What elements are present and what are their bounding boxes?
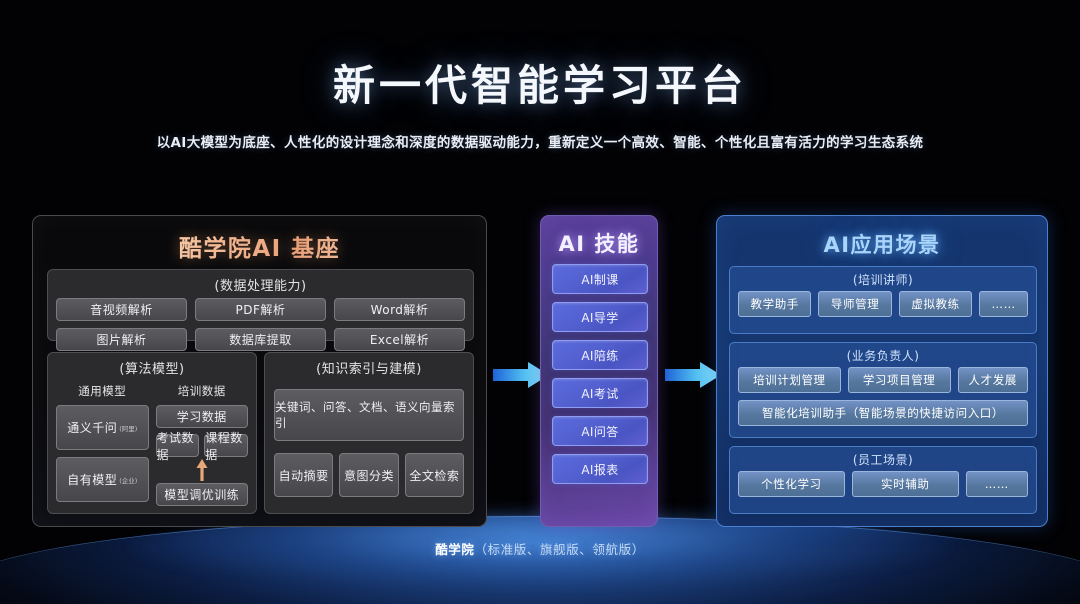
chip-learning-data[interactable]: 学习数据 (156, 405, 249, 428)
chip-model-own-name: 自有模型 (67, 471, 117, 488)
chip-fulltext-search[interactable]: 全文检索 (405, 453, 464, 497)
data-processing-group: (数据处理能力) 音视频解析 PDF解析 Word解析 图片解析 数据库提取 E… (47, 269, 474, 341)
algorithm-model-group: (算法模型) 通用模型 通义千问(阿里) 自有模型(企业) 培训数据 学习数据 … (47, 352, 257, 514)
knowledge-index-group: (知识索引与建模) 关键词、问答、文档、语义向量索引 自动摘要 意图分类 全文检… (264, 352, 474, 514)
chip-database-extract[interactable]: 数据库提取 (195, 328, 326, 351)
page-subtitle: 以AI大模型为底座、人性化的设计理念和深度的数据驱动能力，重新定义一个高效、智能… (0, 131, 1080, 151)
ai-skill-title: AI 技能 (541, 228, 657, 258)
chip-model-finetune-training[interactable]: 模型调优训练 (156, 483, 249, 506)
scene-chip-personalized-learning[interactable]: 个性化学习 (738, 471, 845, 497)
chip-word-parse[interactable]: Word解析 (334, 298, 465, 321)
knowledge-index-label: (知识索引与建模) (265, 353, 473, 381)
scene-business-row-1: 培训计划管理 学习项目管理 人才发展 (730, 367, 1036, 400)
chip-auto-summary[interactable]: 自动摘要 (274, 453, 333, 497)
scene-group-trainer-label: (培训讲师) (730, 267, 1036, 291)
arrow-right-icon (664, 360, 722, 390)
scene-chip-talent-development[interactable]: 人才发展 (958, 367, 1029, 393)
page-title: 新一代智能学习平台 (0, 52, 1080, 113)
chip-model-own-sup: (企业) (119, 475, 137, 485)
chip-exam-data[interactable]: 考试数据 (156, 434, 200, 457)
skill-item-ai-course[interactable]: AI制课 (552, 264, 648, 294)
chip-model-qwen-sup: (阿里) (119, 423, 137, 433)
skill-item-ai-report[interactable]: AI报表 (552, 454, 648, 484)
skill-item-ai-practice[interactable]: AI陪练 (552, 340, 648, 370)
scene-chip-smart-training-assistant[interactable]: 智能化培训助手（智能场景的快捷访问入口） (738, 400, 1028, 426)
chip-intent-classification[interactable]: 意图分类 (339, 453, 398, 497)
footer-brand: 酷学院 (435, 542, 474, 557)
skill-item-ai-guidance[interactable]: AI导学 (552, 302, 648, 332)
ai-scene-panel: AI应用场景 (培训讲师) 教学助手 导师管理 虚拟教练 …… (业务负责人) … (716, 215, 1048, 527)
scene-chip-mentor-management[interactable]: 导师管理 (818, 291, 891, 317)
footer: 酷学院（标准版、旗舰版、领航版） (0, 539, 1080, 558)
scene-chip-more-employee[interactable]: …… (966, 471, 1028, 497)
training-data-heading: 培训数据 (156, 383, 249, 399)
scene-chip-more-trainer[interactable]: …… (979, 291, 1028, 317)
scene-chip-virtual-coach[interactable]: 虚拟教练 (899, 291, 972, 317)
arrow-up-icon (195, 458, 209, 482)
data-processing-label: (数据处理能力) (48, 270, 473, 298)
skill-item-ai-qa[interactable]: AI问答 (552, 416, 648, 446)
chip-model-qwen[interactable]: 通义千问(阿里) (56, 405, 149, 450)
scene-employee-row: 个性化学习 实时辅助 …… (730, 471, 1036, 504)
chip-model-qwen-name: 通义千问 (67, 419, 117, 436)
header: 新一代智能学习平台 以AI大模型为底座、人性化的设计理念和深度的数据驱动能力，重… (0, 0, 1080, 151)
scene-group-business: (业务负责人) 培训计划管理 学习项目管理 人才发展 智能化培训助手（智能场景的… (729, 342, 1037, 438)
chip-semantic-index-bar[interactable]: 关键词、问答、文档、语义向量索引 (274, 389, 464, 441)
ai-scene-title: AI应用场景 (717, 229, 1047, 259)
chip-pdf-parse[interactable]: PDF解析 (195, 298, 326, 321)
ai-skill-list: AI制课 AI导学 AI陪练 AI考试 AI问答 AI报表 (552, 264, 648, 492)
scene-chip-teaching-assistant[interactable]: 教学助手 (738, 291, 811, 317)
scene-group-employee-label: (员工场景) (730, 447, 1036, 471)
flow-arrow-2 (664, 360, 722, 390)
slide-canvas: 新一代智能学习平台 以AI大模型为底座、人性化的设计理念和深度的数据驱动能力，重… (0, 0, 1080, 604)
footer-editions: （标准版、旗舰版、领航版） (475, 542, 645, 557)
ai-base-panel: 酷学院AI 基座 (数据处理能力) 音视频解析 PDF解析 Word解析 图片解… (32, 215, 487, 527)
chip-image-parse[interactable]: 图片解析 (56, 328, 187, 351)
skill-item-ai-exam[interactable]: AI考试 (552, 378, 648, 408)
scene-chip-realtime-assistance[interactable]: 实时辅助 (852, 471, 959, 497)
platform-edge (0, 516, 1080, 604)
ai-skill-panel: AI 技能 AI制课 AI导学 AI陪练 AI考试 AI问答 AI报表 (540, 215, 658, 527)
scene-chip-training-plan-management[interactable]: 培训计划管理 (738, 367, 841, 393)
chip-model-own[interactable]: 自有模型(企业) (56, 457, 149, 502)
scene-group-employee: (员工场景) 个性化学习 实时辅助 …… (729, 446, 1037, 514)
algorithm-model-label: (算法模型) (48, 353, 256, 381)
scene-trainer-row: 教学助手 导师管理 虚拟教练 …… (730, 291, 1036, 324)
scene-group-business-label: (业务负责人) (730, 343, 1036, 367)
scene-business-row-2: 智能化培训助手（智能场景的快捷访问入口） (730, 400, 1036, 433)
chip-excel-parse[interactable]: Excel解析 (334, 328, 465, 351)
chip-audio-video-parse[interactable]: 音视频解析 (56, 298, 187, 321)
general-model-heading: 通用模型 (56, 383, 149, 399)
chip-course-data[interactable]: 课程数据 (204, 434, 248, 457)
scene-group-trainer: (培训讲师) 教学助手 导师管理 虚拟教练 …… (729, 266, 1037, 334)
scene-chip-learning-project-management[interactable]: 学习项目管理 (848, 367, 951, 393)
ai-base-title: 酷学院AI 基座 (33, 229, 486, 263)
data-processing-row-1: 音视频解析 PDF解析 Word解析 (48, 298, 473, 328)
